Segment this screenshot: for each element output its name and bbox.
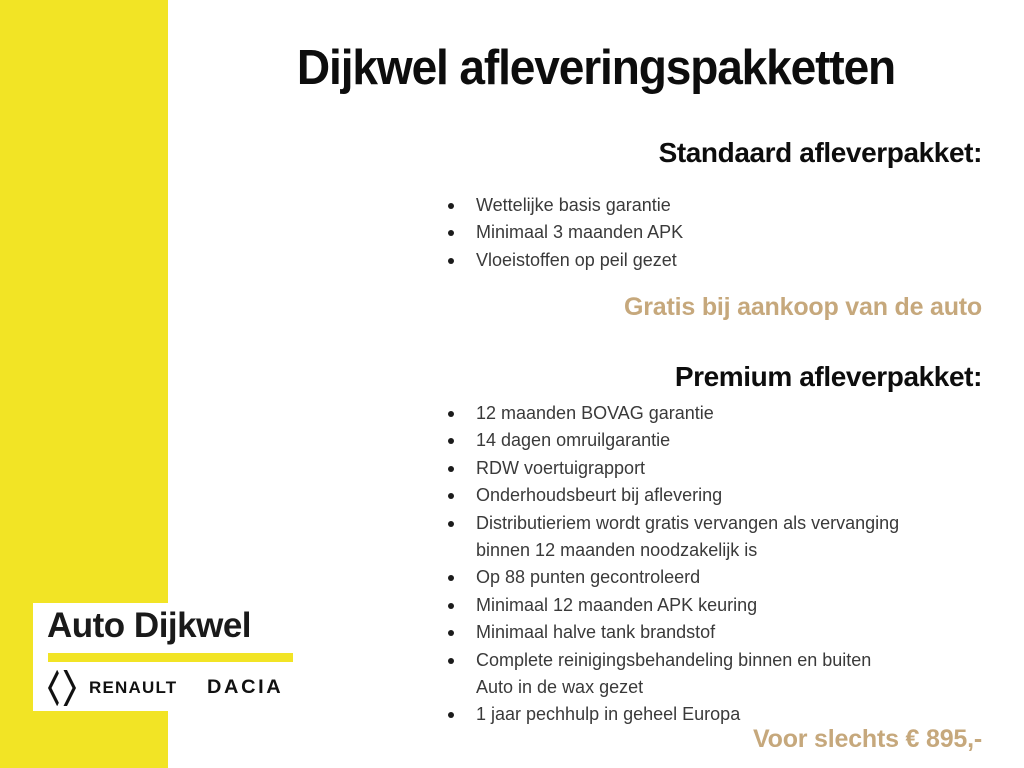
list-item: Minimaal 12 maanden APK keuring — [446, 592, 1006, 619]
list-item-text: Onderhoudsbeurt bij aflevering — [476, 485, 722, 505]
premium-feature-list: 12 maanden BOVAG garantie 14 dagen omrui… — [446, 400, 1006, 729]
bullet-icon — [448, 603, 454, 609]
bullet-icon — [448, 575, 454, 581]
bullet-icon — [448, 630, 454, 636]
bullet-icon — [448, 258, 454, 264]
poster-canvas: Auto Dijkwel RENAULT DACIA Dijkwel aflev… — [0, 0, 1024, 768]
list-item: Minimaal 3 maanden APK — [446, 219, 1006, 246]
list-item-text: Wettelijke basis garantie — [476, 195, 671, 215]
list-item-text: Minimaal 12 maanden APK keuring — [476, 595, 757, 615]
list-item-continuation: binnen 12 maanden noodzakelijk is — [476, 537, 1006, 564]
bullet-icon — [448, 493, 454, 499]
list-item: 12 maanden BOVAG garantie — [446, 400, 1006, 427]
list-item-text: 12 maanden BOVAG garantie — [476, 403, 714, 423]
list-item-text: Minimaal halve tank brandstof — [476, 622, 715, 642]
page-title: Dijkwel afleveringspakketten — [194, 40, 999, 96]
list-item: Distributieriem wordt gratis vervangen a… — [446, 510, 1006, 565]
bullet-icon — [448, 438, 454, 444]
bullet-icon — [448, 466, 454, 472]
list-item: 14 dagen omruilgarantie — [446, 427, 1006, 454]
bullet-icon — [448, 658, 454, 664]
content-column: Dijkwel afleveringspakketten Standaard a… — [168, 0, 1024, 768]
list-item-text: Complete reinigingsbehandeling binnen en… — [476, 650, 871, 670]
list-item: Wettelijke basis garantie — [446, 192, 1006, 219]
bullet-icon — [448, 521, 454, 527]
list-item: Vloeistoffen op peil gezet — [446, 247, 1006, 274]
list-item-text: Vloeistoffen op peil gezet — [476, 250, 677, 270]
bullet-icon — [448, 712, 454, 718]
list-item: RDW voertuigrapport — [446, 455, 1006, 482]
list-item-text: RDW voertuigrapport — [476, 458, 645, 478]
list-item: Onderhoudsbeurt bij aflevering — [446, 482, 1006, 509]
list-item: Complete reinigingsbehandeling binnen en… — [446, 647, 1006, 702]
renault-wordmark: RENAULT — [89, 678, 177, 698]
standaard-feature-list: Wettelijke basis garantie Minimaal 3 maa… — [446, 192, 1006, 274]
list-item: Minimaal halve tank brandstof — [446, 619, 1006, 646]
list-item-text: Minimaal 3 maanden APK — [476, 222, 683, 242]
renault-diamond-icon — [47, 669, 77, 707]
list-item-text: Op 88 punten gecontroleerd — [476, 567, 700, 587]
standaard-accent-text: Gratis bij aankoop van de auto — [168, 292, 982, 322]
bullet-icon — [448, 203, 454, 209]
list-item-text: Distributieriem wordt gratis vervangen a… — [476, 513, 899, 533]
premium-price-text: Voor slechts € 895,- — [168, 724, 982, 754]
list-item: Op 88 punten gecontroleerd — [446, 564, 1006, 591]
bullet-icon — [448, 230, 454, 236]
list-item-continuation: Auto in de wax gezet — [476, 674, 1006, 701]
list-item-text: 14 dagen omruilgarantie — [476, 430, 670, 450]
list-item-text: 1 jaar pechhulp in geheel Europa — [476, 704, 740, 724]
bullet-icon — [448, 411, 454, 417]
standaard-section-heading: Standaard afleverpakket: — [168, 136, 982, 170]
premium-section-heading: Premium afleverpakket: — [168, 360, 982, 394]
